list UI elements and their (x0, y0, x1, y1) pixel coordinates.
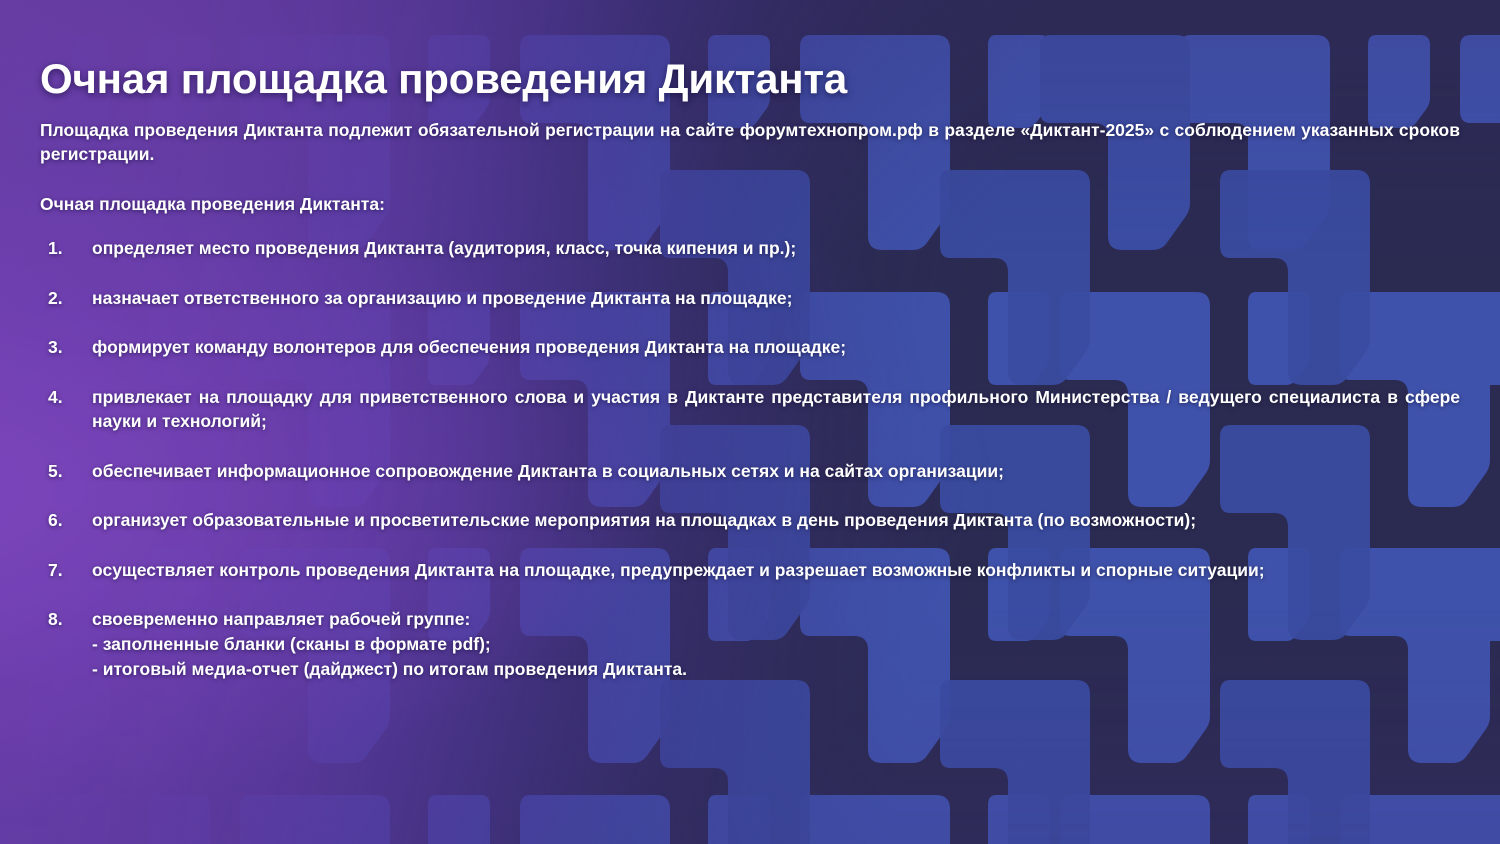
list-item-number: 8. (48, 607, 82, 632)
list-item-number: 4. (48, 385, 82, 410)
list-item-text: определяет место проведения Диктанта (ау… (92, 238, 796, 258)
list-item-number: 3. (48, 335, 82, 360)
slide-root: Очная площадка проведения Диктанта Площа… (0, 0, 1500, 844)
list-item: 2. назначает ответственного за организац… (40, 286, 1460, 311)
list-item-text: своевременно направляет рабочей группе: (92, 609, 470, 629)
list-item-text: обеспечивает информационное сопровождени… (92, 461, 1004, 481)
requirements-list: 1. определяет место проведения Диктанта … (40, 236, 1460, 682)
list-item: 3. формирует команду волонтеров для обес… (40, 335, 1460, 360)
list-item: 5. обеспечивает информационное сопровожд… (40, 459, 1460, 484)
list-item-text: организует образовательные и просветител… (92, 510, 1196, 530)
list-item-number: 5. (48, 459, 82, 484)
list-item-text: осуществляет контроль проведения Диктант… (92, 560, 1265, 580)
list-item: 1. определяет место проведения Диктанта … (40, 236, 1460, 261)
sublist-line: - заполненные бланки (сканы в формате pd… (92, 632, 1460, 657)
list-item-text: назначает ответственного за организацию … (92, 288, 793, 308)
page-title: Очная площадка проведения Диктанта (40, 56, 847, 102)
sublist-line: - итоговый медиа-отчет (дайджест) по ито… (92, 657, 1460, 682)
list-item-text: привлекает на площадку для приветственно… (92, 387, 1460, 432)
intro-paragraph: Площадка проведения Диктанта подлежит об… (40, 118, 1460, 166)
list-item: 4. привлекает на площадку для приветстве… (40, 385, 1460, 434)
section-subheading: Очная площадка проведения Диктанта: (40, 192, 1460, 216)
list-item: 6. организует образовательные и просвети… (40, 508, 1460, 533)
deliverables-sublist: - заполненные бланки (сканы в формате pd… (92, 632, 1460, 682)
list-item-number: 1. (48, 236, 82, 261)
list-item: 8. своевременно направляет рабочей групп… (40, 607, 1460, 682)
list-item: 7. осуществляет контроль проведения Дикт… (40, 558, 1460, 583)
list-item-number: 7. (48, 558, 82, 583)
list-item-text: формирует команду волонтеров для обеспеч… (92, 337, 846, 357)
list-item-number: 6. (48, 508, 82, 533)
slide-content: Очная площадка проведения Диктанта Площа… (0, 0, 1500, 844)
list-item-number: 2. (48, 286, 82, 311)
body-block: Площадка проведения Диктанта подлежит об… (40, 118, 1460, 682)
